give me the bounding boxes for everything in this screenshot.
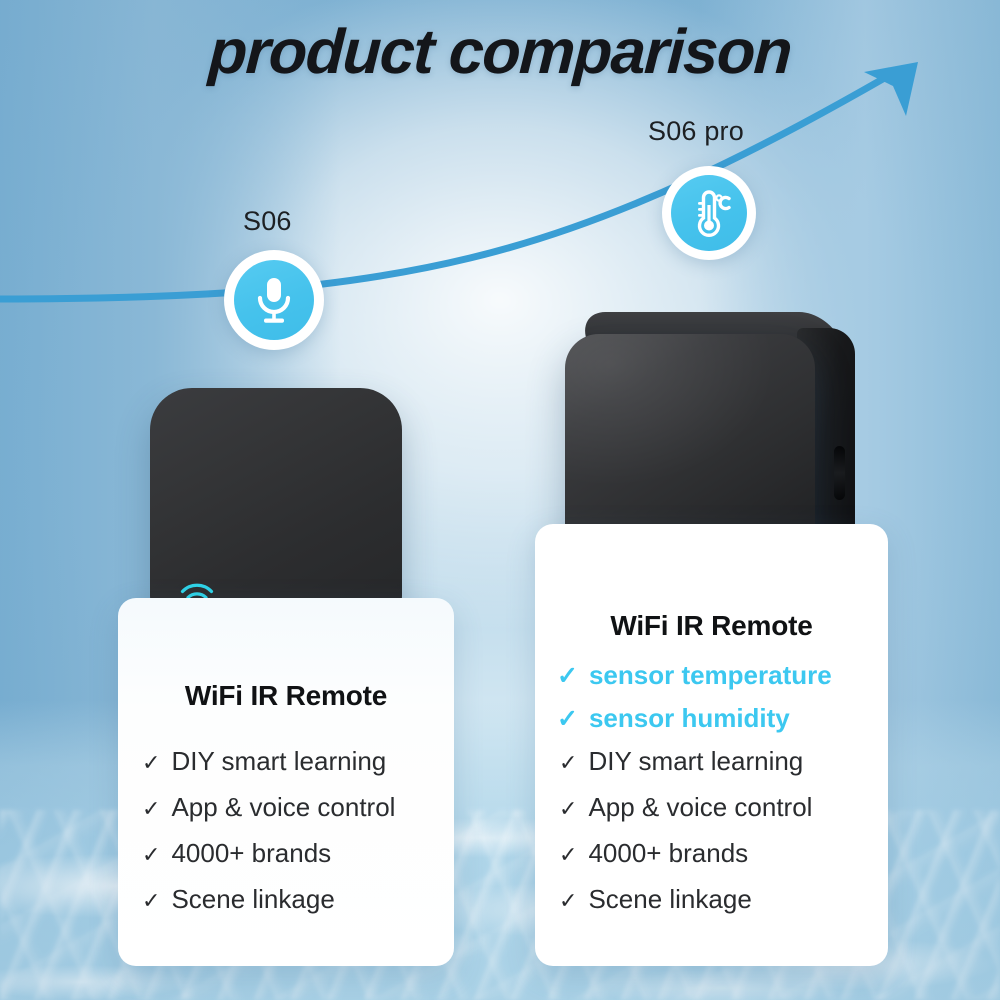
list-item: ✓ 4000+ brands <box>142 840 454 866</box>
feature-label: Scene linkage <box>588 886 751 912</box>
product-comparison-image: S06 S06 pro <box>0 0 1000 1000</box>
feature-label: 4000+ brands <box>588 840 748 866</box>
marker-label-s06pro: S06 pro <box>648 116 744 147</box>
list-item: ✓ App & voice control <box>559 794 888 820</box>
list-item: ✓ DIY smart learning <box>142 748 454 774</box>
marker-badge-s06pro[interactable] <box>662 166 756 260</box>
list-item: ✓ Scene linkage <box>559 886 888 912</box>
check-icon: ✓ <box>559 752 577 774</box>
feature-label: App & voice control <box>171 794 395 820</box>
marker-badge-inner <box>671 175 747 251</box>
list-item: ✓ DIY smart learning <box>559 748 888 774</box>
feature-label: App & voice control <box>588 794 812 820</box>
list-item: ✓ App & voice control <box>142 794 454 820</box>
card-title-s06: WiFi IR Remote <box>118 680 454 712</box>
check-icon: ✓ <box>142 798 160 820</box>
check-icon: ✓ <box>142 752 160 774</box>
check-icon: ✓ <box>142 890 160 912</box>
card-title-s06-pro: WiFi IR Remote <box>535 610 888 642</box>
feature-label: sensor humidity <box>589 705 790 731</box>
check-icon: ✓ <box>559 844 577 866</box>
list-item: ✓ sensor humidity <box>557 705 888 732</box>
sensor-feature-list-s06-pro: ✓ sensor temperature ✓ sensor humidity <box>535 662 888 732</box>
feature-label: sensor temperature <box>589 662 832 688</box>
marker-badge-inner <box>234 260 314 340</box>
check-icon: ✓ <box>557 707 578 732</box>
check-icon: ✓ <box>559 798 577 820</box>
marker-label-s06: S06 <box>243 206 292 237</box>
product-card-s06: WiFi IR Remote ✓ DIY smart learning ✓ Ap… <box>118 598 454 966</box>
product-card-s06-pro: WiFi IR Remote ✓ sensor temperature ✓ se… <box>535 524 888 966</box>
list-item: ✓ 4000+ brands <box>559 840 888 866</box>
feature-list-s06-pro: ✓ DIY smart learning ✓ App & voice contr… <box>535 748 888 912</box>
device-port <box>834 446 845 500</box>
feature-label: DIY smart learning <box>588 748 803 774</box>
microphone-icon <box>253 274 295 326</box>
feature-label: Scene linkage <box>171 886 334 912</box>
check-icon: ✓ <box>142 844 160 866</box>
marker-badge-s06[interactable] <box>224 250 324 350</box>
feature-list-s06: ✓ DIY smart learning ✓ App & voice contr… <box>118 748 454 912</box>
check-icon: ✓ <box>557 664 578 689</box>
thermometer-celsius-icon <box>686 188 732 238</box>
feature-label: 4000+ brands <box>171 840 331 866</box>
check-icon: ✓ <box>559 890 577 912</box>
feature-label: DIY smart learning <box>171 748 386 774</box>
list-item: ✓ sensor temperature <box>557 662 888 689</box>
page-title: product comparison <box>0 16 1000 88</box>
list-item: ✓ Scene linkage <box>142 886 454 912</box>
